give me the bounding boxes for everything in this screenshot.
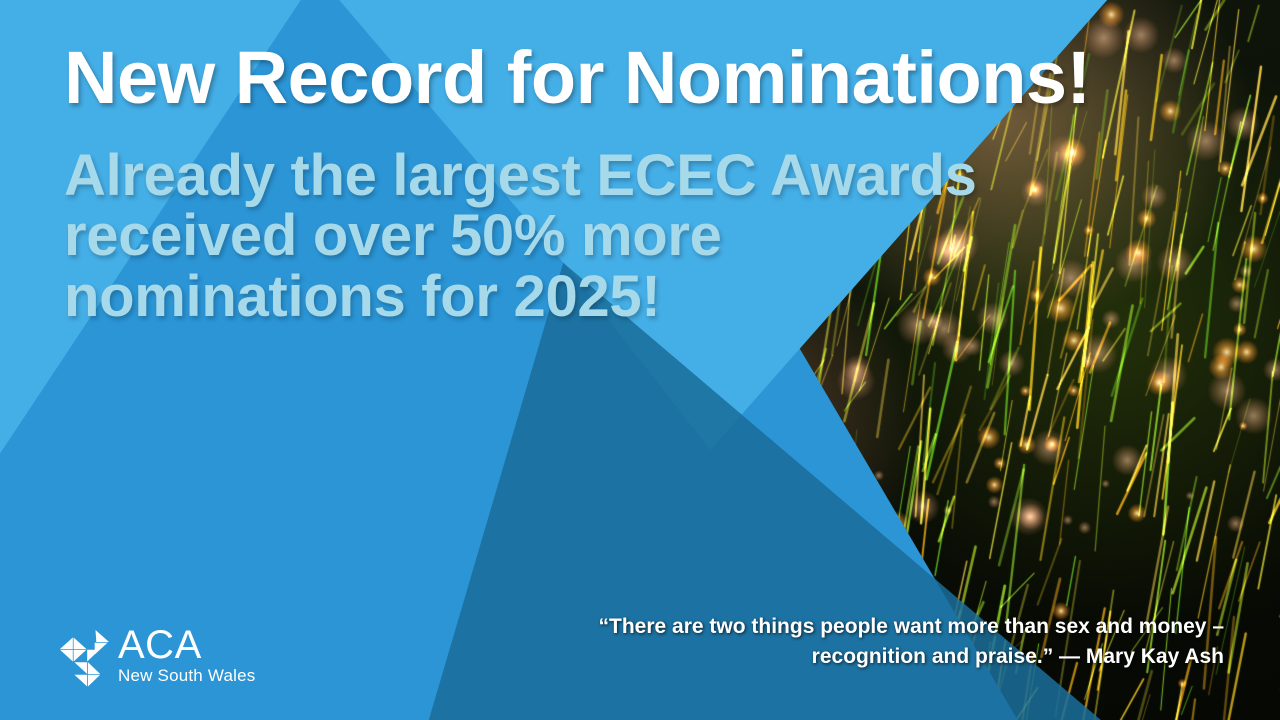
aca-logo: ACA New South Wales bbox=[58, 627, 255, 688]
aca-logo-region: New South Wales bbox=[118, 666, 255, 686]
quote-line-1: “There are two things people want more t… bbox=[524, 612, 1224, 642]
subtitle-block: Already the largest ECEC Awards received… bbox=[64, 146, 1124, 327]
aca-logo-wordmark: ACA New South Wales bbox=[118, 627, 255, 688]
page-title: New Record for Nominations! bbox=[64, 42, 1244, 115]
subtitle-line-1: Already the largest ECEC Awards bbox=[64, 146, 1124, 206]
quote-line-2: recognition and praise.” — Mary Kay Ash bbox=[524, 642, 1224, 672]
subtitle-line-3: nominations for 2025! bbox=[64, 267, 1124, 327]
aca-logo-name: ACA bbox=[118, 627, 255, 664]
slide-canvas: New Record for Nominations! Already the … bbox=[0, 0, 1280, 720]
quote-block: “There are two things people want more t… bbox=[524, 612, 1224, 672]
subtitle-line-2: received over 50% more bbox=[64, 206, 1124, 266]
aca-diamond-triangles-icon bbox=[58, 628, 112, 688]
